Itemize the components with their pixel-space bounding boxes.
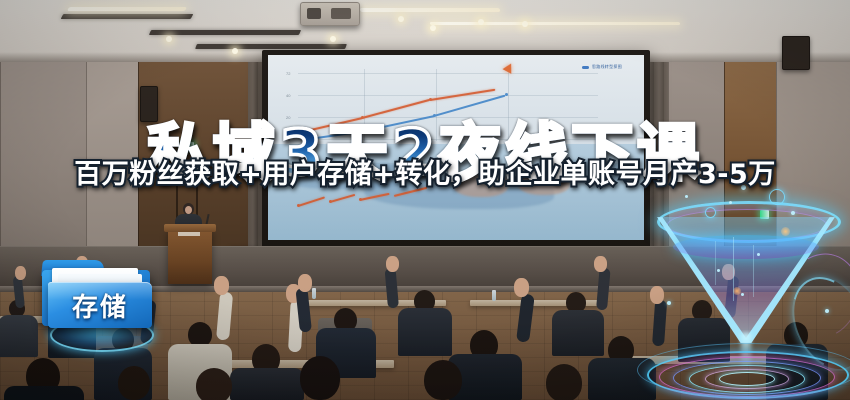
presenter-face [185,206,192,214]
ceiling-slot-1 [61,14,194,19]
exit-sign-icon-right [760,210,769,219]
audience-head [300,356,340,400]
podium-papers [178,232,200,236]
folder-label: 存储 [48,282,152,328]
downlight-7 [522,21,528,27]
audience-hand [214,276,229,295]
audience-body [678,318,730,362]
audience-head [196,368,232,400]
audience-hand [650,286,664,304]
chart-legend: 思路线转型探图 [582,64,622,70]
downlight-6 [478,19,484,25]
ceiling-slot-2 [149,30,301,35]
chart-marker-orange-3 [429,98,432,101]
audience-body [0,315,38,357]
audience-head [546,364,582,400]
lower-marker-2 [329,200,332,203]
audience-body [398,308,452,356]
downlight-4 [398,16,404,22]
chart-ytick-1: 40 [286,93,290,98]
downlight-1 [166,36,172,42]
water-bottle-2 [492,290,496,301]
chart-ytick-0: 72 [286,71,290,76]
page-subtitle: 百万粉丝获取+用户存储+转化，助企业单账号月产3-5万 [0,160,850,190]
lower-marker-3 [359,198,362,201]
water-bottle-1 [312,288,316,299]
audience-body [552,310,604,356]
audience-body [4,386,84,400]
audience-hand [722,264,735,280]
chart-gridline-h-1 [298,73,598,74]
audience-hand [514,278,529,297]
audience-head [118,366,150,400]
audience-body [588,358,656,400]
audience-hand [594,256,607,272]
audience-body [230,368,304,400]
ceiling-projector-icon [300,2,360,26]
podium [168,228,212,284]
downlight-5 [430,25,436,31]
audience-head [424,360,462,400]
chart-marker-blue-2 [505,93,508,96]
wall-speaker-right [782,36,810,70]
ceiling-light-strip-1 [67,7,187,11]
legend-color-swatch [582,66,589,69]
audience-hand [15,266,26,280]
poster-canvas: 思路线转型探图 72 40 20 0 1990 1995 2000 2005 2… [0,0,850,400]
downlight-3 [330,36,336,42]
audience-body [766,344,828,400]
audience-hand [298,274,312,292]
legend-label: 思路线转型探图 [592,64,622,70]
audience-hand [386,256,399,272]
downlight-2 [232,48,238,54]
storage-folder-badge: 存储 [36,258,164,350]
lower-marker-1 [297,204,300,207]
ceiling-slot-3 [195,44,347,49]
ceiling-light-strip-2 [360,8,501,12]
ceiling-light-strip-3 [430,22,681,25]
